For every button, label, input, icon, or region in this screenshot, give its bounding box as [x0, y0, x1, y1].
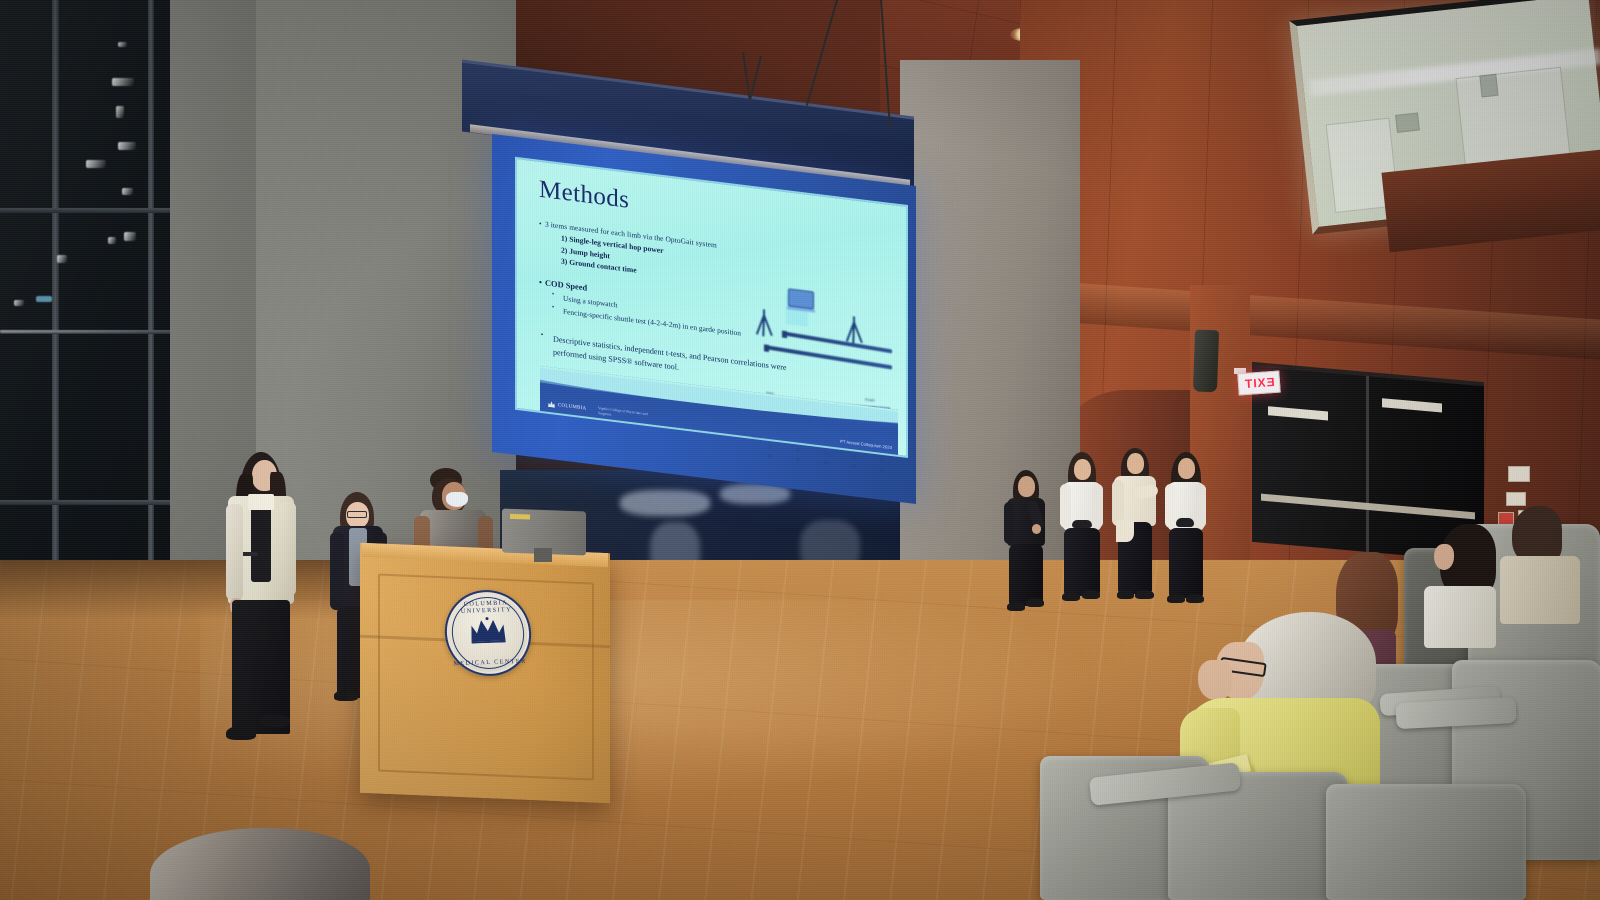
window-reflection	[86, 160, 106, 168]
step-label: B	[797, 447, 800, 452]
glass-reflection	[620, 490, 710, 516]
shoe	[1186, 594, 1204, 603]
slide-surface: Methods •3 items measured for each limb …	[515, 157, 908, 458]
tripod-leg	[852, 322, 854, 343]
arm-left	[1165, 484, 1176, 528]
white-top	[1424, 586, 1496, 648]
columbia-medical-center-seal: COLUMBIA UNIVERSITY MEDICAL CENTER	[442, 589, 534, 678]
booth-interior-sign	[1479, 73, 1499, 97]
distance-label: 2m	[851, 463, 856, 469]
audience-foreground-head	[150, 828, 370, 900]
arm-left	[1004, 502, 1014, 544]
wall-control-plate[interactable]	[1506, 492, 1526, 506]
window-reflection	[118, 142, 136, 150]
shoe	[1117, 590, 1134, 599]
window-reflection	[122, 188, 133, 195]
hand	[1032, 524, 1041, 534]
door-center-seam	[1366, 376, 1369, 552]
window-reflection	[116, 106, 124, 118]
shoe	[1167, 594, 1185, 603]
distance-label: 2m	[795, 456, 800, 462]
head	[1127, 453, 1144, 474]
window-reflection	[124, 232, 136, 241]
presenter-white-blazer	[218, 452, 314, 772]
seal-text-top: COLUMBIA UNIVERSITY	[445, 599, 528, 616]
window-reflection	[108, 237, 116, 244]
shoe	[258, 714, 290, 727]
head	[1074, 459, 1091, 480]
monitor-stand	[534, 548, 552, 562]
arm-left	[330, 532, 344, 610]
optogait-setup-diagram	[744, 279, 894, 389]
presenter-cream-sweater	[1112, 448, 1164, 608]
columbia-logo-text: COLUMBIA	[558, 403, 586, 411]
trousers	[1009, 544, 1043, 606]
sensor-bar-end	[782, 331, 787, 339]
step-label: D	[853, 454, 856, 459]
window-reflection	[14, 300, 24, 306]
auditorium-photo: EXIT	[0, 0, 1600, 900]
hair	[150, 828, 370, 900]
arm-right	[280, 502, 296, 596]
arm-left	[1060, 484, 1071, 528]
head	[1018, 476, 1035, 497]
arm-right	[1195, 484, 1206, 528]
distance-label: 4m	[823, 460, 828, 466]
arm-right	[1092, 484, 1103, 528]
head	[1434, 544, 1454, 570]
glasses	[347, 511, 367, 518]
monitor-label-sticker	[510, 514, 530, 520]
step-label: E	[881, 458, 883, 463]
projection-screen: Methods •3 items measured for each limb …	[492, 134, 916, 504]
presenter-white-shirt-2	[1164, 452, 1212, 610]
auditorium-seat	[1326, 784, 1526, 900]
window-reflection	[36, 296, 52, 302]
step-label: C	[825, 451, 828, 456]
inner-top	[251, 498, 271, 582]
booth-interior-sign	[1395, 112, 1420, 133]
window-reflection	[118, 42, 127, 47]
crown-icon	[467, 616, 509, 643]
wall-speaker	[1193, 330, 1219, 393]
presenter-black-top	[1004, 470, 1056, 618]
hand-raised	[1198, 660, 1232, 700]
distance-label: 4m	[767, 453, 772, 459]
collar	[248, 494, 274, 510]
door-sign-plate	[1382, 398, 1442, 412]
shoe	[226, 726, 256, 740]
head	[1178, 458, 1195, 479]
columbia-logo: COLUMBIA	[548, 401, 586, 412]
face-mask	[446, 492, 468, 507]
shoe	[334, 690, 358, 701]
shoe	[1007, 602, 1025, 611]
paper-held	[1176, 518, 1194, 527]
paper-held	[1072, 520, 1092, 528]
course-label: Finish	[865, 398, 875, 403]
exit-sign-label: EXIT	[1243, 375, 1275, 391]
crown-icon	[548, 401, 555, 408]
wall-control-plate[interactable]	[1508, 466, 1530, 482]
shoe	[1082, 590, 1100, 599]
shoe	[1135, 590, 1154, 599]
sweater-drape	[1116, 520, 1134, 542]
arm-left	[226, 504, 243, 600]
columbia-logo-subtitle: Vagelos College of Physicians and Surgeo…	[598, 406, 658, 423]
step-label: A	[769, 444, 772, 449]
trousers	[1169, 528, 1203, 598]
window-reflection	[112, 78, 134, 86]
sensor-bar-end	[764, 344, 769, 352]
audience-white-top	[1420, 524, 1516, 654]
exit-sign: EXIT	[1237, 371, 1280, 396]
trousers	[1064, 528, 1100, 596]
slide-footer-right-text: PT Annual Colloquium 2023	[840, 439, 892, 450]
shoe	[1026, 598, 1044, 607]
distance-label: 4m	[879, 467, 884, 473]
window-reflection	[57, 255, 67, 263]
presenter-white-shirt-1	[1060, 452, 1108, 608]
shoe	[1062, 592, 1080, 601]
door-sign-plate	[1268, 406, 1328, 420]
window-reflection	[0, 330, 180, 333]
tripod-leg	[762, 315, 764, 336]
